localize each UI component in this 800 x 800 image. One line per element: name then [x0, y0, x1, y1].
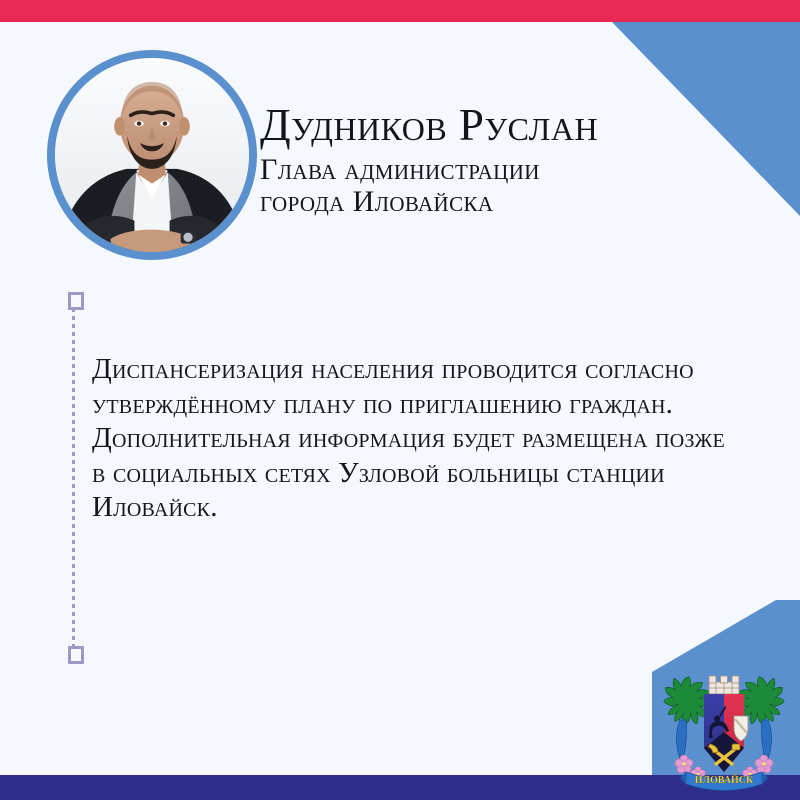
- header-text-block: Дудников Руслан Глава администрации горо…: [260, 100, 700, 218]
- statement-text: Диспансеризация населения проводится сог…: [92, 352, 732, 525]
- node-square-top-icon: [68, 292, 84, 310]
- page-title: Дудников Руслан: [260, 100, 700, 150]
- oak-branch-left-icon: [664, 677, 710, 725]
- poster-canvas: Дудников Руслан Глава администрации горо…: [0, 0, 800, 800]
- mural-crown-icon: [709, 676, 739, 694]
- coat-of-arms-icon: ИЛОВАЙСК: [660, 672, 788, 796]
- ribbon-text: ИЛОВАЙСК: [695, 774, 754, 786]
- shield-icon: [704, 694, 748, 772]
- dotted-connector-rail: [68, 292, 80, 664]
- person-role-line-2: города Иловайска: [260, 186, 700, 218]
- avatar: [47, 50, 257, 260]
- name-ribbon-icon: ИЛОВАЙСК: [680, 772, 768, 791]
- statement-block: Диспансеризация населения проводится сог…: [92, 352, 732, 525]
- portrait-photo-icon: [55, 58, 249, 252]
- dotted-line: [72, 308, 75, 648]
- node-square-bottom-icon: [68, 646, 84, 664]
- coat-of-arms-ilovaysk: ИЛОВАЙСК: [660, 672, 788, 796]
- top-red-bar: [0, 0, 800, 22]
- person-role-line-1: Глава администрации: [260, 154, 700, 186]
